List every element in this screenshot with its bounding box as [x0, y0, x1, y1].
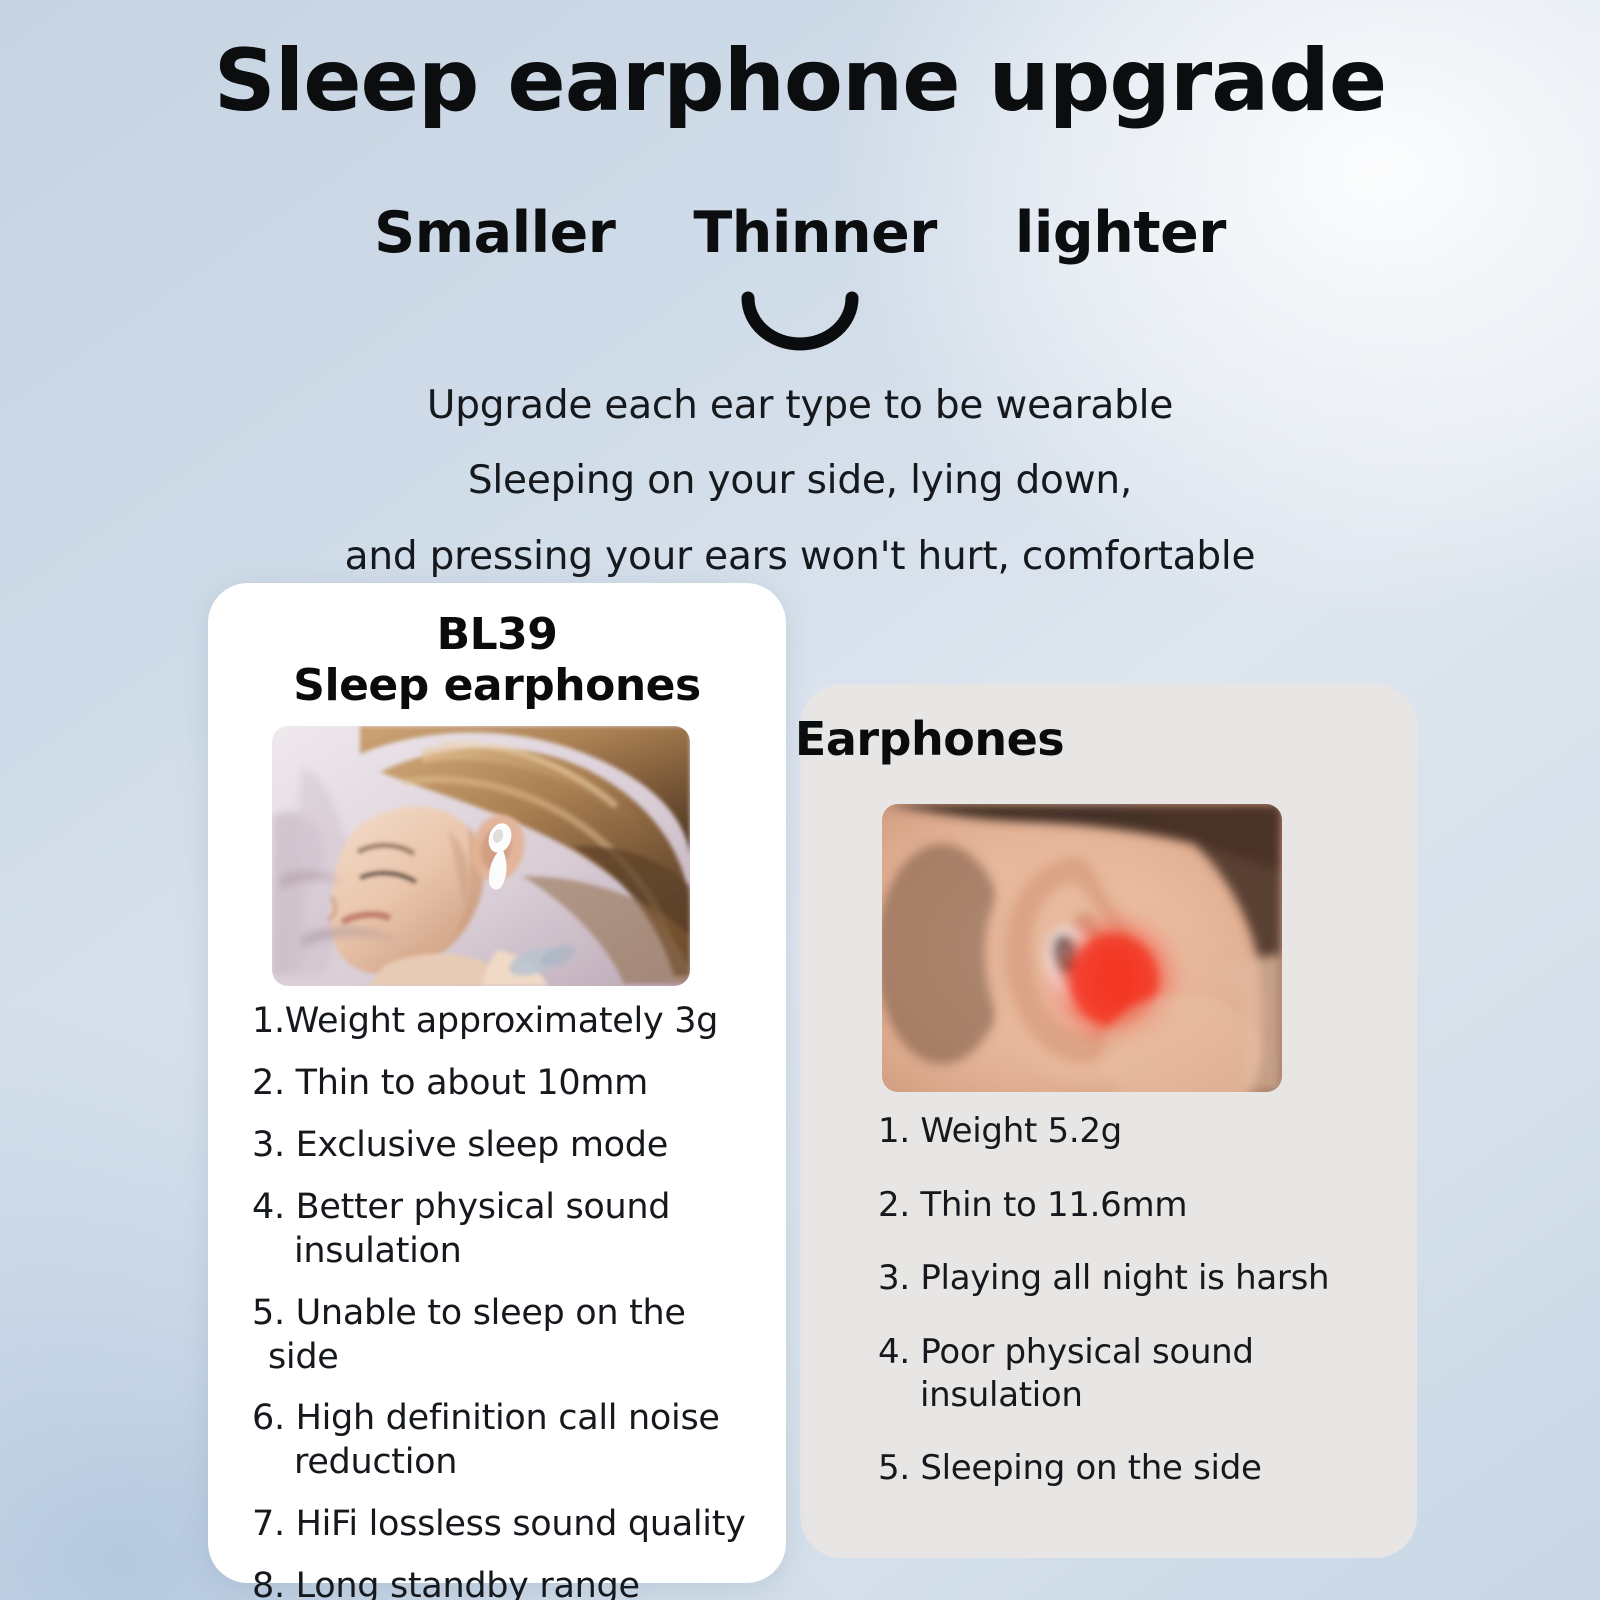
list-item: 1.Weight approximately 3g	[252, 1000, 764, 1044]
new-card-photo	[272, 726, 690, 986]
list-item: 3. Playing all night is harsh	[878, 1257, 1388, 1300]
smile-arc-icon	[730, 288, 870, 368]
list-item: 7. HiFi lossless sound quality	[252, 1503, 764, 1547]
tagline-block: Upgrade each ear type to be wearable Sle…	[0, 368, 1600, 594]
list-item: 4. Better physical sound insulation	[252, 1186, 764, 1274]
page-title: Sleep earphone upgrade	[0, 36, 1600, 126]
list-item: 2. Thin to about 10mm	[252, 1062, 764, 1106]
tagline-line-2: Sleeping on your side, lying down,	[0, 443, 1600, 518]
list-item: 2. Thin to 11.6mm	[878, 1184, 1388, 1227]
subtitle-word-smaller: Smaller	[374, 200, 615, 266]
subtitle-word-lighter: lighter	[1015, 200, 1226, 266]
tagline-line-3: and pressing your ears won't hurt, comfo…	[0, 519, 1600, 594]
list-item: 8. Long standby range	[252, 1565, 764, 1600]
new-card-feature-list: 1.Weight approximately 3g 2. Thin to abo…	[252, 1000, 764, 1600]
new-card-title-line2: Sleep earphones	[208, 660, 786, 711]
subtitle-word-thinner: Thinner	[693, 200, 936, 266]
list-item: 1. Weight 5.2g	[878, 1110, 1388, 1153]
ear-with-earbud-pain-illustration	[882, 804, 1282, 1092]
old-card-photo	[882, 804, 1282, 1092]
new-card-title: BL39 Sleep earphones	[208, 609, 786, 712]
smile-arc-icon-wrap	[0, 288, 1600, 368]
woman-sleeping-with-earbud-illustration	[272, 726, 690, 986]
list-item: 5. Unable to sleep on the side	[252, 1292, 764, 1380]
old-card-feature-list: 1. Weight 5.2g 2. Thin to 11.6mm 3. Play…	[878, 1110, 1388, 1521]
list-item: 6. High definition call noise reduction	[252, 1397, 764, 1485]
new-card-title-line1: BL39	[208, 609, 786, 660]
subtitle-word-row: Smaller Thinner lighter	[0, 200, 1600, 266]
list-item: 5. Sleeping on the side	[878, 1447, 1388, 1490]
list-item: 3. Exclusive sleep mode	[252, 1124, 764, 1168]
product-comparison-poster: Sleep earphone upgrade Smaller Thinner l…	[0, 0, 1600, 1600]
list-item: 4. Poor physical sound insulation	[878, 1331, 1388, 1416]
tagline-line-1: Upgrade each ear type to be wearable	[0, 368, 1600, 443]
